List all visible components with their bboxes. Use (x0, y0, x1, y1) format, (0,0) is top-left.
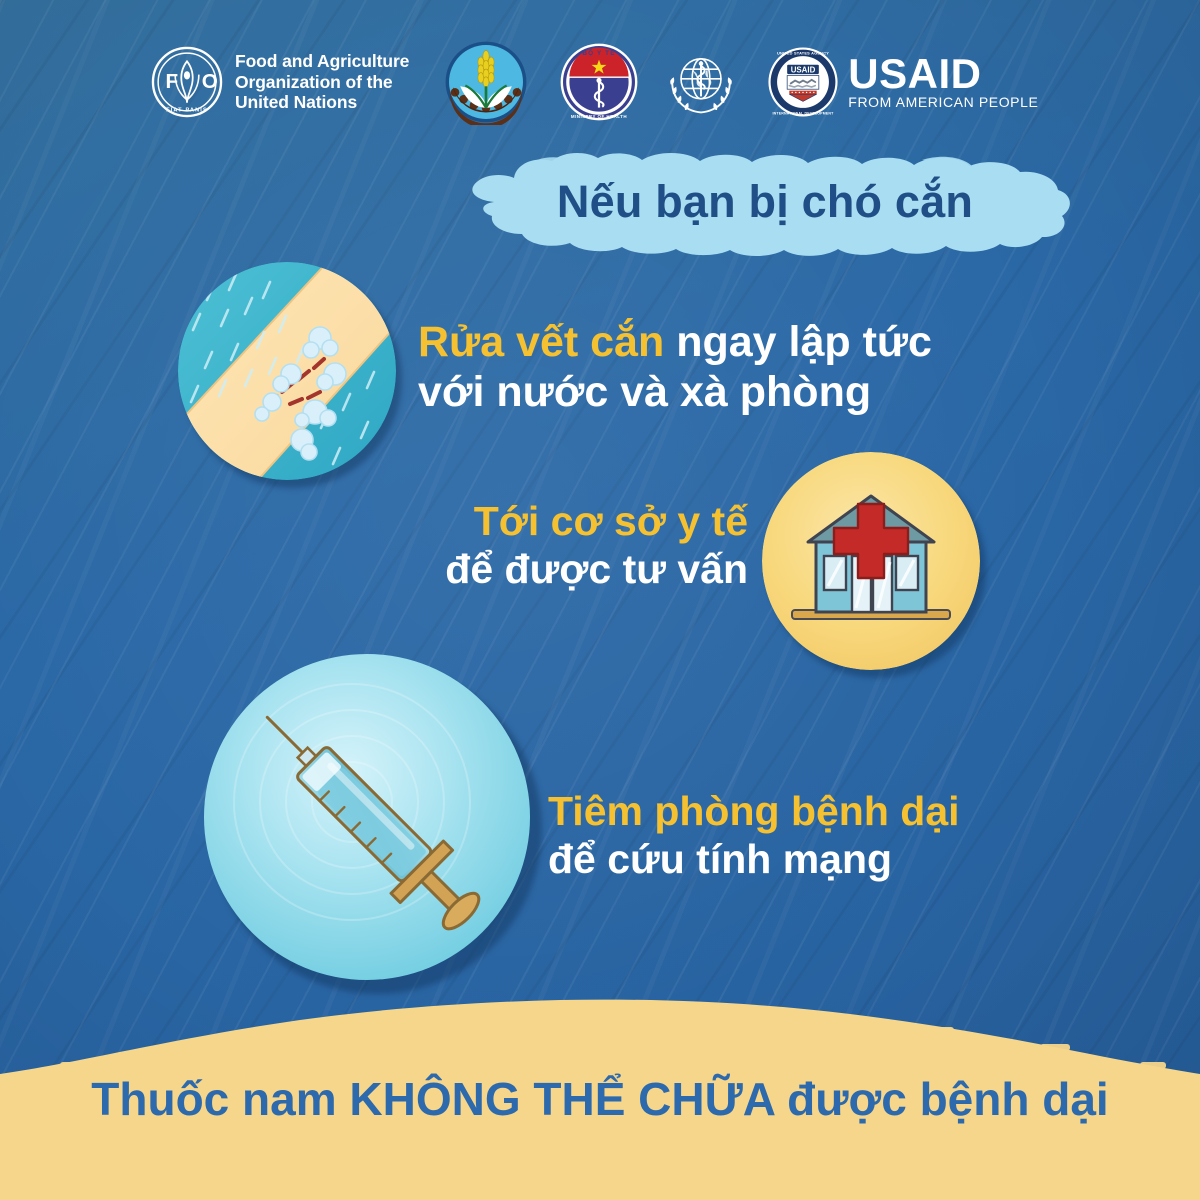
bottom-text-part1: Thuốc nam (91, 1073, 349, 1125)
usaid-wordmark: USAID (848, 54, 1038, 93)
title-cloud-banner: Nếu bạn bị chó cắn (452, 150, 1078, 258)
mard-wheat-gear-emblem-icon (443, 39, 529, 125)
svg-text:O: O (202, 70, 218, 93)
step1-line2: với nước và xà phòng (418, 368, 1018, 418)
usaid-logo: USAID UNITED STATES AGENCY INTERNATIONAL… (767, 46, 1038, 118)
bottom-warning-banner: Thuốc nam KHÔNG THỂ CHỮA được bệnh dại (0, 970, 1200, 1200)
step3-line1: Tiêm phòng bệnh dại (548, 788, 1038, 836)
poster-root: F O FIAT PANIS Food and Agriculture Orga… (0, 0, 1200, 1200)
usaid-wordmark-group: USAID FROM AMERICAN PEOPLE (848, 54, 1038, 111)
step1-rest1: ngay lập tức (664, 318, 932, 366)
fao-wheat-emblem-icon: F O FIAT PANIS (150, 45, 224, 119)
svg-text:UNITED STATES AGENCY: UNITED STATES AGENCY (777, 51, 829, 56)
who-globe-laurel-emblem-icon (661, 42, 741, 122)
step1-line1: Rửa vết cắn ngay lập tức (418, 318, 1018, 368)
step-wash-wound-text: Rửa vết cắn ngay lập tức với nước và xà … (418, 318, 1018, 418)
svg-text:MINISTRY OF HEALTH: MINISTRY OF HEALTH (571, 114, 627, 119)
step-go-to-clinic-text: Tới cơ sở y tế để được tư vấn (398, 498, 748, 593)
usaid-tagline: FROM AMERICAN PEOPLE (848, 95, 1038, 110)
svg-text:USAID: USAID (791, 65, 816, 74)
step-get-vaccinated-text: Tiêm phòng bệnh dại để cứu tính mạng (548, 788, 1038, 883)
step1-highlight: Rửa vết cắn (418, 318, 664, 366)
step2-line2: để được tư vấn (398, 546, 748, 594)
page-title: Nếu bạn bị chó cắn (452, 150, 1078, 258)
wash-bite-wound-icon (178, 262, 396, 480)
svg-text:FIAT PANIS: FIAT PANIS (166, 108, 208, 114)
fao-logo-label: Food and Agriculture Organization of the… (235, 51, 409, 112)
step3-line2: để cứu tính mạng (548, 836, 1038, 884)
step2-line1: Tới cơ sở y tế (398, 498, 748, 546)
health-clinic-building-icon (762, 452, 980, 670)
fao-logo: F O FIAT PANIS Food and Agriculture Orga… (150, 45, 409, 119)
partner-logo-bar: F O FIAT PANIS Food and Agriculture Orga… (150, 36, 1090, 128)
clinic-illustration (762, 452, 980, 670)
svg-text:INTERNATIONAL DEVELOPMENT: INTERNATIONAL DEVELOPMENT (773, 111, 835, 115)
syringe-illustration (202, 652, 532, 982)
wash-illustration (178, 262, 396, 480)
usaid-handshake-seal-icon: USAID UNITED STATES AGENCY INTERNATIONAL… (767, 46, 839, 118)
syringe-vaccine-icon (202, 652, 532, 982)
moh-rod-of-asclepius-emblem-icon: BỘ Y TẾ MINISTRY OF HEALTH (559, 42, 639, 122)
bottom-text-part2: KHÔNG THỂ CHỮA (349, 1073, 774, 1125)
bottom-text-part3: được bệnh dại (774, 1073, 1108, 1125)
bottom-banner-text: Thuốc nam KHÔNG THỂ CHỮA được bệnh dại (0, 1072, 1200, 1126)
